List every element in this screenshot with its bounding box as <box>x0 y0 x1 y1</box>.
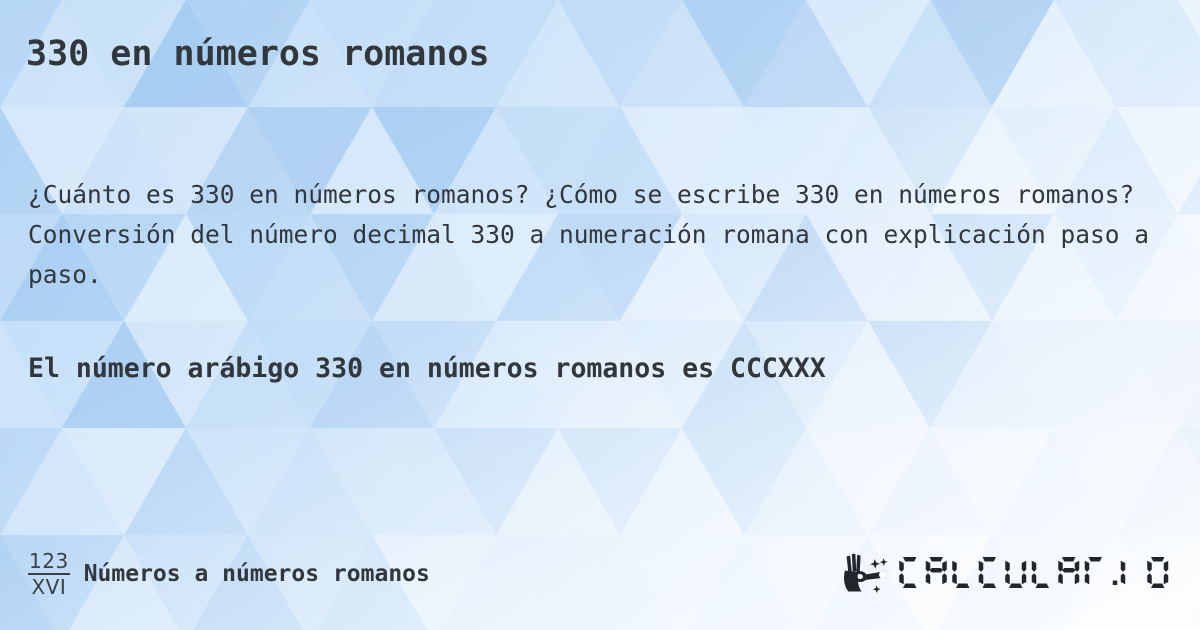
brand-logo[interactable] <box>837 546 1174 602</box>
conversion-result: El número arábigo 330 en números romanos… <box>28 348 1128 390</box>
magic-wand-hand-icon <box>837 551 893 597</box>
og-image-canvas: 330 en números romanos ¿Cuánto es 330 en… <box>0 0 1200 630</box>
fraction-denominator: XVI <box>31 575 66 598</box>
footer-converter-link[interactable]: 123 XVI Números a números romanos <box>28 546 430 602</box>
lead-paragraph: ¿Cuánto es 330 en números romanos? ¿Cómo… <box>28 175 1158 295</box>
footer-converter-label: Números a números romanos <box>84 561 430 587</box>
fraction-numerator: 123 <box>28 550 70 575</box>
page-title: 330 en números romanos <box>26 34 490 74</box>
footer: 123 XVI Números a números romanos <box>0 546 1200 602</box>
arabic-to-roman-fraction-icon: 123 XVI <box>28 550 70 598</box>
brand-wordmark <box>899 551 1174 597</box>
